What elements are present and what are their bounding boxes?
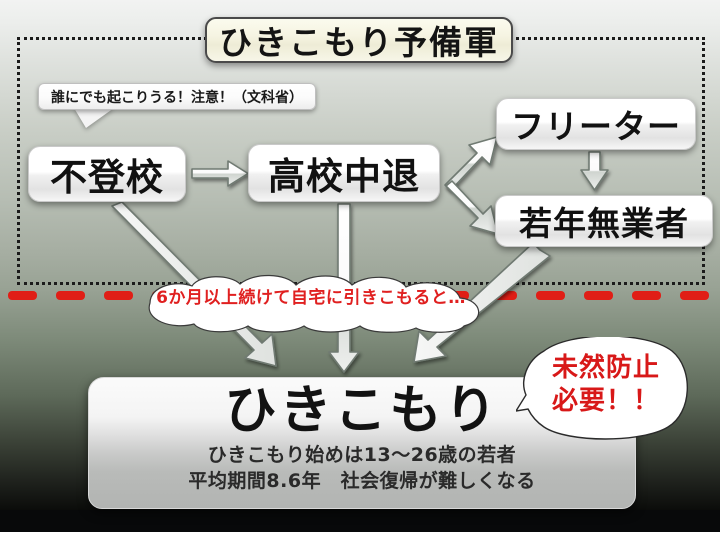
divider-dash (536, 291, 565, 300)
mext-warning-callout: 誰にでも起こりうる！注意！（文科省） (38, 83, 316, 110)
mext-callout-tail (74, 108, 114, 128)
divider-dash (8, 291, 37, 300)
prevention-balloon (516, 337, 696, 441)
background-floor (0, 510, 720, 532)
diagram-title: ひきこもり予備軍 (205, 17, 513, 63)
divider-dash (56, 291, 85, 300)
result-detail-line-2: 平均期間8.6年 社会復帰が難しくなる (188, 468, 535, 494)
node-school-refusal[interactable]: 不登校 (28, 146, 186, 202)
divider-dash (584, 291, 613, 300)
divider-dash (632, 291, 661, 300)
node-young-neet[interactable]: 若年無業者 (495, 195, 713, 247)
node-highschool-dropout[interactable]: 高校中退 (248, 144, 440, 202)
result-title: ひきこもり (224, 380, 499, 442)
divider-dash (680, 291, 709, 300)
result-detail-line-1: ひきこもり始めは13〜26歳の若者 (208, 442, 516, 468)
cloud-callout-text: 6か月以上続けて自宅に引きこもると… (128, 283, 494, 308)
diagram-canvas: 6か月以上続けて自宅に引きこもると… 未然防止 必要！！ 誰にでも起こりうる！注… (0, 0, 720, 540)
node-freeter[interactable]: フリーター (496, 98, 696, 150)
